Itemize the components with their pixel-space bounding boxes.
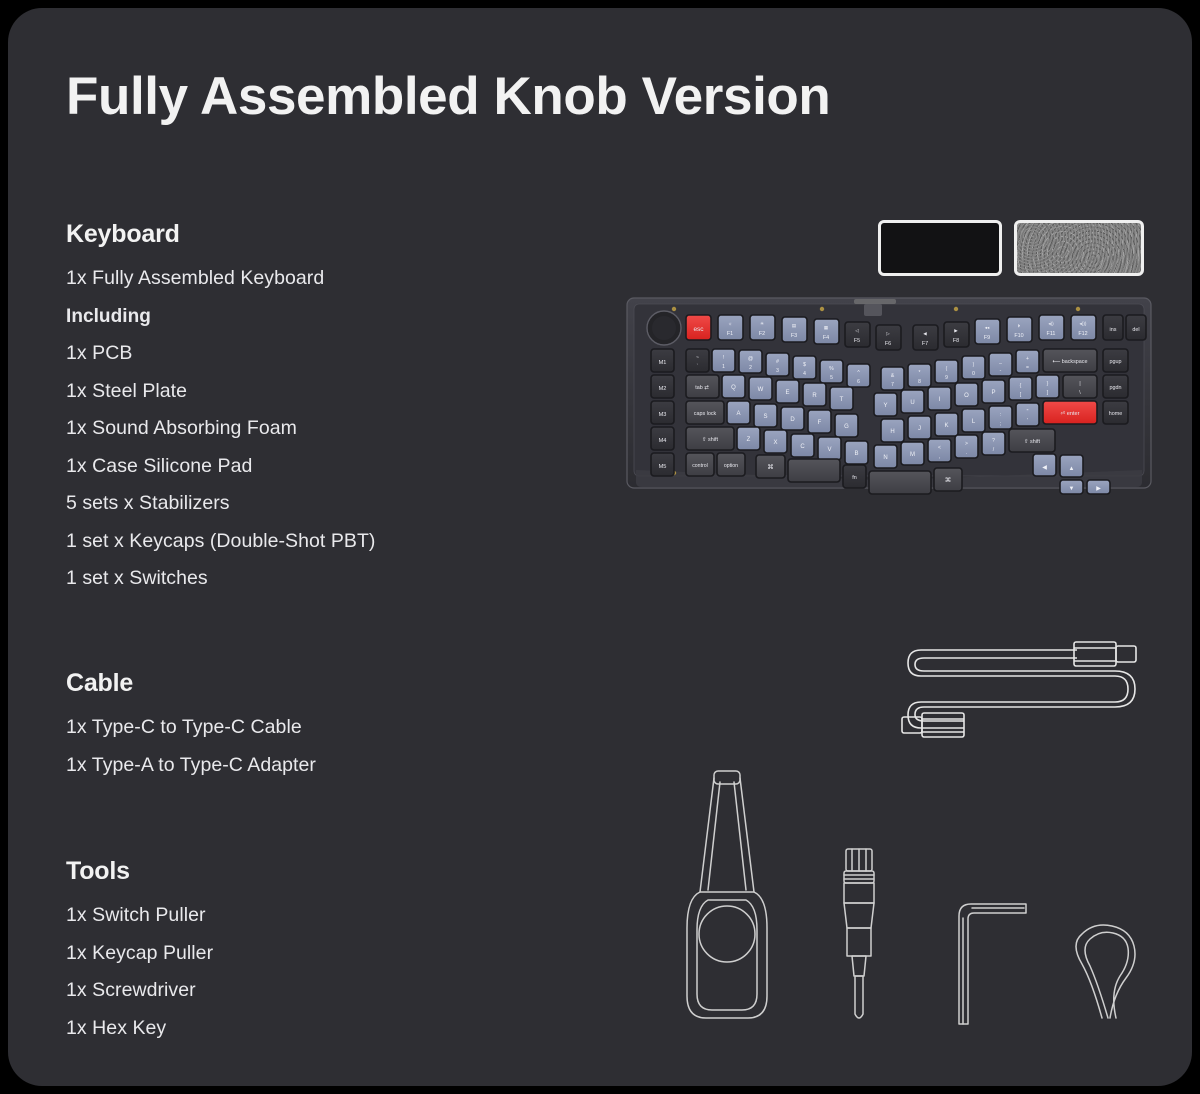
svg-text:N: N (883, 455, 887, 461)
svg-text:⌘: ⌘ (945, 477, 951, 484)
list-item: 1x Sound Absorbing Foam (66, 410, 375, 448)
svg-text:H: H (890, 429, 894, 435)
svg-text:": " (1027, 409, 1029, 415)
svg-text:=: = (1026, 365, 1029, 371)
svg-text:F8: F8 (953, 338, 959, 344)
svg-text:M2: M2 (659, 386, 667, 392)
list-item: 1 set x Switches (66, 560, 375, 598)
svg-text:F6: F6 (885, 341, 891, 347)
svg-text:9: 9 (945, 375, 948, 381)
svg-text:8: 8 (918, 379, 921, 385)
page-title: Fully Assembled Knob Version (66, 66, 830, 127)
svg-text:>: > (965, 441, 968, 447)
list-item: Including (66, 298, 375, 336)
list-item: 5 sets x Stabilizers (66, 485, 375, 523)
svg-text:☼: ☼ (728, 321, 732, 326)
svg-text:▲: ▲ (1069, 466, 1075, 472)
svg-text:X: X (773, 440, 777, 446)
svg-text:@: @ (748, 356, 753, 362)
list-item: 1x Fully Assembled Keyboard (66, 260, 375, 298)
svg-text:▼: ▼ (1069, 486, 1075, 492)
svg-text:◁: ◁ (855, 328, 859, 333)
section-title-cable: Cable (66, 669, 316, 698)
svg-text:⟵ backspace: ⟵ backspace (1053, 359, 1088, 365)
cable-image (884, 628, 1150, 778)
svg-text:◂)): ◂)) (1048, 321, 1054, 326)
svg-text:W: W (758, 387, 764, 393)
svg-text:.: . (966, 450, 967, 456)
svg-text:option: option (724, 463, 738, 469)
svg-text:F2: F2 (759, 331, 765, 337)
svg-text:M: M (910, 452, 915, 458)
svg-text:G: G (844, 424, 849, 430)
svg-text:Y: Y (883, 403, 887, 409)
svg-text:⇧ shift: ⇧ shift (1024, 439, 1040, 445)
list-item: 1 set x Keycaps (Double-Shot PBT) (66, 523, 375, 561)
svg-text:▷: ▷ (886, 331, 890, 336)
svg-text:F7: F7 (922, 341, 928, 347)
svg-text:M5: M5 (659, 464, 667, 470)
svg-text:V: V (827, 447, 831, 453)
svg-text:pgdn: pgdn (1110, 385, 1122, 391)
svg-text:▦: ▦ (824, 325, 829, 330)
svg-text:caps lock: caps lock (694, 411, 717, 417)
svg-text:#: # (776, 359, 779, 365)
svg-text:%: % (829, 366, 834, 372)
case-silicone-pad-image (878, 220, 1002, 276)
hex-key-shape (959, 904, 1026, 1024)
svg-text:control: control (692, 463, 708, 469)
list-item: 1x Case Silicone Pad (66, 448, 375, 486)
svg-text::: : (1000, 412, 1001, 418)
list-item: 1x Type-C to Type-C Cable (66, 709, 316, 747)
svg-text:6: 6 (857, 379, 860, 385)
svg-text:C: C (800, 444, 805, 450)
contents-card: Fully Assembled Knob Version Keyboard 1x… (8, 8, 1192, 1086)
svg-text:F11: F11 (1047, 331, 1056, 337)
svg-text:0: 0 (972, 371, 975, 377)
svg-text:S: S (763, 414, 767, 420)
svg-text:⌘: ⌘ (767, 464, 773, 471)
section-cable: Cable 1x Type-C to Type-C Cable 1x Type-… (66, 669, 316, 784)
svg-text:7: 7 (891, 382, 894, 388)
section-keyboard: Keyboard 1x Fully Assembled Keyboard Inc… (66, 220, 375, 598)
svg-text:M1: M1 (659, 360, 667, 366)
svg-text:Z: Z (747, 437, 751, 443)
svg-text:A: A (736, 411, 740, 417)
svg-text:$: $ (803, 362, 806, 368)
svg-text:F10: F10 (1014, 333, 1023, 339)
svg-text:?: ? (992, 438, 995, 444)
svg-text:_: _ (998, 359, 1002, 365)
svg-text:F1: F1 (727, 331, 733, 337)
svg-text:▶: ▶ (1096, 486, 1101, 492)
svg-text:!: ! (723, 355, 724, 361)
svg-text:del: del (1132, 327, 1139, 333)
svg-text:F5: F5 (854, 338, 860, 344)
list-item: 1x Screwdriver (66, 972, 213, 1010)
svg-text:T: T (840, 397, 844, 403)
switch-puller-shape (687, 771, 767, 1018)
keyboard-image: esc ☼F1 ☀F2 ▤F3 ▦F4 ◁F5 ▷F6 ◀F7 ▶F8 (626, 294, 1152, 497)
svg-text:esc: esc (693, 326, 704, 333)
list-item: 1x Switch Puller (66, 897, 213, 935)
list-item: 1x Type-A to Type-C Adapter (66, 747, 316, 785)
svg-text:,: , (939, 454, 940, 460)
screwdriver-shape (844, 849, 874, 1018)
svg-text:M3: M3 (659, 412, 667, 418)
svg-text:4: 4 (803, 371, 806, 377)
svg-text:▶: ▶ (954, 328, 958, 333)
svg-text:fn: fn (852, 475, 857, 481)
svg-text:F4: F4 (823, 335, 829, 341)
svg-text:+: + (1026, 356, 1029, 362)
svg-text:◀: ◀ (923, 331, 927, 336)
list-item: 1x Steel Plate (66, 373, 375, 411)
svg-text:K: K (944, 423, 948, 429)
section-tools: Tools 1x Switch Puller 1x Keycap Puller … (66, 857, 213, 1047)
svg-text:tab ⇄: tab ⇄ (695, 385, 709, 391)
svg-text:~: ~ (696, 355, 699, 361)
svg-text:J: J (918, 426, 921, 432)
svg-text:|: | (1079, 381, 1080, 387)
svg-text:F: F (818, 420, 822, 426)
svg-text:ins: ins (1110, 327, 1117, 333)
section-title-keyboard: Keyboard (66, 220, 375, 249)
svg-text:◂))): ◂))) (1080, 321, 1087, 326)
svg-text:Q: Q (731, 385, 736, 391)
svg-text:F3: F3 (791, 333, 797, 339)
svg-text:◀: ◀ (1042, 465, 1047, 471)
list-item: 1x Keycap Puller (66, 935, 213, 973)
svg-text:;: ; (1000, 421, 1001, 427)
svg-text:': ' (1027, 418, 1028, 424)
sound-absorbing-foam-image (1014, 220, 1144, 276)
svg-text:O: O (964, 393, 969, 399)
svg-text:2: 2 (749, 365, 752, 371)
svg-text:<: < (938, 445, 941, 451)
svg-text:1: 1 (722, 364, 725, 370)
list-item: 1x PCB (66, 335, 375, 373)
svg-text:⏎ enter: ⏎ enter (1061, 410, 1080, 417)
svg-text:⇧ shift: ⇧ shift (702, 437, 718, 443)
svg-text:U: U (910, 400, 914, 406)
svg-text:P: P (991, 390, 995, 396)
svg-text:*: * (919, 370, 921, 376)
svg-text:▤: ▤ (792, 323, 797, 328)
list-item: 1x Hex Key (66, 1010, 213, 1048)
section-title-tools: Tools (66, 857, 213, 886)
keycap-puller-shape (1076, 925, 1135, 1018)
svg-text:pgup: pgup (1110, 359, 1122, 365)
svg-text:◂◂: ◂◂ (985, 325, 990, 330)
svg-text:E: E (785, 390, 789, 396)
tools-image (680, 766, 1150, 1038)
svg-text:R: R (812, 393, 817, 399)
svg-text:F12: F12 (1078, 331, 1087, 337)
svg-text:D: D (790, 417, 795, 423)
svg-text:F9: F9 (984, 335, 990, 341)
svg-text:B: B (854, 451, 858, 457)
svg-text:3: 3 (776, 368, 779, 374)
svg-text:home: home (1109, 411, 1123, 417)
svg-text:M4: M4 (659, 438, 667, 444)
svg-text:5: 5 (830, 375, 833, 381)
